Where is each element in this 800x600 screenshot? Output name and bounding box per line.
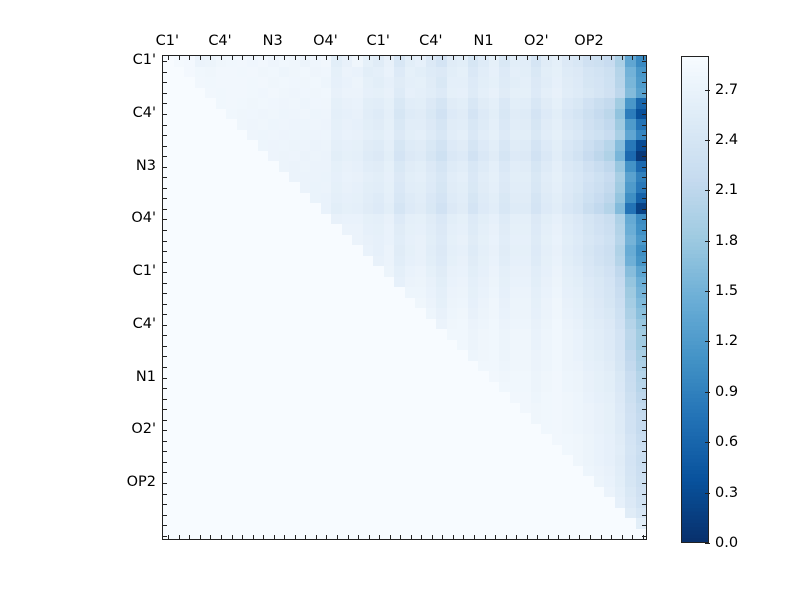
heatmap-cell bbox=[331, 119, 342, 130]
heatmap-cell bbox=[510, 193, 521, 204]
heatmap-cell bbox=[195, 67, 206, 78]
heatmap-cell bbox=[247, 518, 258, 529]
heatmap-cell bbox=[184, 455, 195, 466]
heatmap-cell bbox=[216, 487, 227, 498]
heatmap-cell bbox=[604, 361, 615, 372]
heatmap-cell bbox=[195, 203, 206, 214]
heatmap-cell bbox=[478, 88, 489, 99]
heatmap-cell bbox=[625, 382, 636, 393]
heatmap-cell bbox=[625, 455, 636, 466]
heatmap-cell bbox=[205, 518, 216, 529]
heatmap-cell bbox=[195, 88, 206, 99]
heatmap-cell bbox=[457, 56, 468, 67]
heatmap-cell bbox=[268, 424, 279, 435]
heatmap-cell bbox=[415, 476, 426, 487]
heatmap-cell bbox=[205, 487, 216, 498]
heatmap-cell bbox=[363, 361, 374, 372]
heatmap-cell bbox=[478, 361, 489, 372]
heatmap-cell bbox=[373, 266, 384, 277]
heatmap-cell bbox=[447, 214, 458, 225]
heatmap-cell bbox=[247, 455, 258, 466]
heatmap-cell bbox=[237, 67, 248, 78]
heatmap-cell bbox=[321, 224, 332, 235]
heatmap-cell bbox=[163, 434, 174, 445]
heatmap-cell bbox=[310, 340, 321, 351]
heatmap-cell bbox=[594, 172, 605, 183]
heatmap-cell bbox=[163, 392, 174, 403]
heatmap-cell bbox=[331, 340, 342, 351]
heatmap-cell bbox=[457, 413, 468, 424]
heatmap-cell bbox=[321, 67, 332, 78]
heatmap-cell bbox=[562, 361, 573, 372]
heatmap-cell bbox=[226, 508, 237, 519]
heatmap-cell bbox=[258, 508, 269, 519]
heatmap-cell bbox=[447, 67, 458, 78]
heatmap-cell bbox=[583, 476, 594, 487]
heatmap-cell bbox=[415, 109, 426, 120]
heatmap-cell bbox=[415, 403, 426, 414]
heatmap-cell bbox=[321, 487, 332, 498]
y-axis-tick bbox=[163, 114, 167, 115]
heatmap-cell bbox=[510, 298, 521, 309]
heatmap-cell bbox=[415, 350, 426, 361]
heatmap-cell bbox=[237, 98, 248, 109]
heatmap-cell bbox=[321, 77, 332, 88]
heatmap-cell bbox=[499, 413, 510, 424]
heatmap-cell bbox=[184, 88, 195, 99]
heatmap-cell bbox=[237, 455, 248, 466]
heatmap-cell bbox=[226, 497, 237, 508]
heatmap-cell bbox=[615, 203, 626, 214]
heatmap-cell bbox=[468, 287, 479, 298]
heatmap-cell bbox=[457, 67, 468, 78]
y-axis-tick bbox=[642, 167, 646, 168]
heatmap-cell bbox=[184, 445, 195, 456]
heatmap-cell bbox=[174, 350, 185, 361]
heatmap-cell bbox=[405, 214, 416, 225]
heatmap-cell bbox=[625, 371, 636, 382]
heatmap-cell bbox=[205, 224, 216, 235]
heatmap-cell bbox=[510, 161, 521, 172]
heatmap-cell bbox=[226, 98, 237, 109]
heatmap-cell bbox=[184, 277, 195, 288]
heatmap-cell bbox=[457, 476, 468, 487]
heatmap-cell bbox=[489, 308, 500, 319]
heatmap-cell bbox=[363, 424, 374, 435]
heatmap-cell bbox=[321, 329, 332, 340]
heatmap-cell bbox=[583, 319, 594, 330]
heatmap-cell bbox=[174, 193, 185, 204]
heatmap-cell bbox=[604, 67, 615, 78]
heatmap-cell bbox=[405, 298, 416, 309]
heatmap-cell bbox=[468, 214, 479, 225]
heatmap-cell bbox=[279, 277, 290, 288]
x-axis-tick bbox=[463, 535, 464, 539]
x-axis-tick bbox=[284, 535, 285, 539]
y-axis-tick bbox=[642, 93, 646, 94]
heatmap-cell bbox=[405, 119, 416, 130]
heatmap-cell bbox=[373, 235, 384, 246]
heatmap-cell bbox=[342, 203, 353, 214]
heatmap-cell bbox=[195, 403, 206, 414]
heatmap-cell bbox=[384, 151, 395, 162]
heatmap-cell bbox=[247, 476, 258, 487]
heatmap-cell bbox=[163, 382, 174, 393]
heatmap-cell bbox=[478, 56, 489, 67]
y-axis-tick bbox=[642, 462, 646, 463]
heatmap-cell bbox=[541, 235, 552, 246]
heatmap-cell bbox=[342, 455, 353, 466]
heatmap-cell bbox=[331, 193, 342, 204]
y-axis-tick bbox=[163, 388, 167, 389]
heatmap-cell bbox=[436, 245, 447, 256]
heatmap-cell bbox=[531, 119, 542, 130]
heatmap-cell bbox=[300, 172, 311, 183]
heatmap-cell bbox=[342, 130, 353, 141]
x-axis-tick bbox=[632, 56, 633, 60]
heatmap-cell bbox=[237, 203, 248, 214]
heatmap-cell bbox=[573, 403, 584, 414]
heatmap-cell bbox=[195, 256, 206, 267]
x-axis-tick bbox=[189, 535, 190, 539]
heatmap-cell bbox=[394, 109, 405, 120]
heatmap-cell bbox=[405, 529, 416, 540]
heatmap-cell bbox=[489, 319, 500, 330]
heatmap-cell bbox=[468, 382, 479, 393]
heatmap-cell bbox=[520, 434, 531, 445]
y-axis-tick bbox=[163, 125, 167, 126]
heatmap-cell bbox=[394, 361, 405, 372]
heatmap-cell bbox=[426, 455, 437, 466]
heatmap-cell bbox=[184, 319, 195, 330]
heatmap-cell bbox=[625, 529, 636, 540]
heatmap-cell bbox=[426, 508, 437, 519]
heatmap-cell bbox=[489, 266, 500, 277]
heatmap-cell bbox=[489, 529, 500, 540]
heatmap-cell bbox=[331, 445, 342, 456]
heatmap-cell bbox=[384, 256, 395, 267]
heatmap-cell bbox=[489, 193, 500, 204]
heatmap-cell bbox=[258, 88, 269, 99]
heatmap-cell bbox=[520, 151, 531, 162]
heatmap-cell bbox=[279, 329, 290, 340]
heatmap-cell bbox=[457, 382, 468, 393]
heatmap-cell bbox=[405, 455, 416, 466]
heatmap-cell bbox=[247, 203, 258, 214]
heatmap-cell bbox=[279, 266, 290, 277]
heatmap-cell bbox=[594, 224, 605, 235]
heatmap-cell bbox=[384, 403, 395, 414]
heatmap-cell bbox=[205, 98, 216, 109]
heatmap-cell bbox=[310, 130, 321, 141]
heatmap-cell bbox=[363, 329, 374, 340]
heatmap-cell bbox=[205, 476, 216, 487]
heatmap-cell bbox=[510, 445, 521, 456]
heatmap-cell bbox=[226, 392, 237, 403]
heatmap-cell bbox=[573, 424, 584, 435]
heatmap-cell bbox=[520, 298, 531, 309]
heatmap-cell bbox=[384, 161, 395, 172]
heatmap-cell bbox=[468, 161, 479, 172]
heatmap-cell bbox=[394, 151, 405, 162]
heatmap-cell bbox=[342, 497, 353, 508]
heatmap-cell bbox=[373, 403, 384, 414]
heatmap-cell bbox=[510, 98, 521, 109]
heatmap-cell bbox=[531, 319, 542, 330]
heatmap-cell bbox=[489, 382, 500, 393]
heatmap-cell bbox=[247, 340, 258, 351]
heatmap-cell bbox=[468, 434, 479, 445]
heatmap-cell bbox=[604, 151, 615, 162]
heatmap-cell bbox=[342, 161, 353, 172]
heatmap-cell bbox=[447, 487, 458, 498]
heatmap-cell bbox=[499, 298, 510, 309]
heatmap-cell bbox=[174, 392, 185, 403]
heatmap-cell bbox=[615, 413, 626, 424]
heatmap-cell bbox=[310, 434, 321, 445]
heatmap-cell bbox=[520, 392, 531, 403]
heatmap-cell bbox=[468, 56, 479, 67]
heatmap-cell bbox=[237, 151, 248, 162]
heatmap-cell bbox=[289, 151, 300, 162]
heatmap-cell bbox=[562, 466, 573, 477]
heatmap-cell bbox=[394, 319, 405, 330]
x-axis-tick bbox=[390, 56, 391, 60]
heatmap-cell bbox=[457, 203, 468, 214]
heatmap-cell bbox=[405, 392, 416, 403]
x-axis-tick-labels: C1'C4'N3O4'C1'C4'N1O2'OP2 bbox=[162, 0, 647, 55]
heatmap-cell bbox=[552, 434, 563, 445]
heatmap-cell bbox=[478, 130, 489, 141]
heatmap-cell bbox=[279, 203, 290, 214]
heatmap-cell bbox=[363, 151, 374, 162]
heatmap-cell bbox=[541, 361, 552, 372]
heatmap-cell bbox=[520, 256, 531, 267]
heatmap-cell bbox=[163, 403, 174, 414]
heatmap-cell bbox=[415, 287, 426, 298]
heatmap-cell bbox=[436, 382, 447, 393]
heatmap-cell bbox=[216, 109, 227, 120]
colorbar-tick-label: 0.0 bbox=[715, 535, 738, 551]
heatmap-cell bbox=[195, 487, 206, 498]
heatmap-cell bbox=[226, 445, 237, 456]
y-axis-tick bbox=[642, 283, 646, 284]
heatmap-cell bbox=[636, 329, 647, 340]
heatmap-cell bbox=[184, 434, 195, 445]
heatmap-cell bbox=[594, 329, 605, 340]
heatmap-cell bbox=[520, 518, 531, 529]
heatmap-cell bbox=[310, 518, 321, 529]
heatmap-cell bbox=[205, 235, 216, 246]
heatmap-cell bbox=[174, 413, 185, 424]
heatmap-cell bbox=[342, 182, 353, 193]
heatmap-cell bbox=[268, 98, 279, 109]
heatmap-cell bbox=[342, 434, 353, 445]
heatmap-cell bbox=[268, 298, 279, 309]
heatmap-cell bbox=[184, 182, 195, 193]
heatmap-cell bbox=[310, 329, 321, 340]
colorbar-tick-label: 1.8 bbox=[715, 233, 738, 249]
heatmap-cell bbox=[279, 350, 290, 361]
heatmap-cell bbox=[478, 287, 489, 298]
heatmap-cell bbox=[489, 497, 500, 508]
heatmap-cell bbox=[562, 340, 573, 351]
heatmap-cell bbox=[373, 214, 384, 225]
heatmap-cell bbox=[226, 140, 237, 151]
heatmap-cell bbox=[205, 466, 216, 477]
heatmap-cell bbox=[594, 350, 605, 361]
heatmap-cell bbox=[625, 518, 636, 529]
heatmap-cell bbox=[174, 161, 185, 172]
heatmap-cell bbox=[415, 130, 426, 141]
x-axis-tick bbox=[326, 535, 327, 539]
heatmap-cell bbox=[216, 392, 227, 403]
heatmap-cell bbox=[205, 67, 216, 78]
heatmap-cell bbox=[289, 434, 300, 445]
heatmap-cell bbox=[625, 350, 636, 361]
x-axis-tick bbox=[200, 56, 201, 60]
heatmap-cell bbox=[426, 182, 437, 193]
heatmap-cell bbox=[331, 382, 342, 393]
heatmap-cell bbox=[216, 298, 227, 309]
y-axis-tick bbox=[642, 430, 646, 431]
heatmap-cell bbox=[510, 455, 521, 466]
heatmap-cell bbox=[205, 298, 216, 309]
heatmap-cell bbox=[226, 466, 237, 477]
y-axis-tick bbox=[642, 241, 646, 242]
heatmap-cell bbox=[468, 277, 479, 288]
heatmap-cell bbox=[531, 151, 542, 162]
y-axis-tick-label: O4' bbox=[131, 210, 156, 226]
heatmap-cell bbox=[520, 161, 531, 172]
heatmap-cell bbox=[573, 340, 584, 351]
heatmap-cell bbox=[394, 203, 405, 214]
heatmap-cell bbox=[552, 287, 563, 298]
heatmap-cell bbox=[184, 497, 195, 508]
heatmap-cell bbox=[562, 214, 573, 225]
heatmap-cell bbox=[562, 319, 573, 330]
heatmap-cell bbox=[594, 203, 605, 214]
heatmap-cell bbox=[268, 434, 279, 445]
heatmap-cell bbox=[321, 434, 332, 445]
heatmap-cell bbox=[300, 98, 311, 109]
heatmap-cell bbox=[520, 455, 531, 466]
heatmap-cell bbox=[562, 529, 573, 540]
heatmap-cell bbox=[552, 109, 563, 120]
heatmap-cell bbox=[573, 329, 584, 340]
heatmap-cell bbox=[289, 487, 300, 498]
heatmap-cell bbox=[636, 298, 647, 309]
heatmap-cell bbox=[268, 455, 279, 466]
heatmap-cell bbox=[289, 130, 300, 141]
y-axis-tick bbox=[163, 177, 167, 178]
heatmap-cell bbox=[510, 466, 521, 477]
heatmap-cell bbox=[352, 497, 363, 508]
heatmap-cell bbox=[510, 371, 521, 382]
heatmap-cell bbox=[573, 508, 584, 519]
heatmap-cell bbox=[310, 361, 321, 372]
heatmap-cell bbox=[300, 151, 311, 162]
heatmap-cell bbox=[247, 497, 258, 508]
heatmap-cell bbox=[499, 287, 510, 298]
heatmap-cell bbox=[394, 455, 405, 466]
heatmap-cell bbox=[583, 329, 594, 340]
heatmap-cell bbox=[436, 98, 447, 109]
heatmap-cell bbox=[604, 256, 615, 267]
heatmap-cell bbox=[310, 88, 321, 99]
heatmap-cell bbox=[226, 119, 237, 130]
x-axis-tick bbox=[558, 535, 559, 539]
x-axis-tick bbox=[400, 56, 401, 60]
heatmap-cell bbox=[436, 298, 447, 309]
heatmap-cell bbox=[258, 413, 269, 424]
heatmap-cell bbox=[394, 487, 405, 498]
colorbar-tick-label: 1.5 bbox=[715, 283, 738, 299]
heatmap-cell bbox=[625, 413, 636, 424]
heatmap-cell bbox=[216, 340, 227, 351]
heatmap-cell bbox=[457, 119, 468, 130]
colorbar-tick bbox=[705, 442, 710, 443]
heatmap-cell bbox=[583, 340, 594, 351]
heatmap-cell bbox=[205, 277, 216, 288]
heatmap-cell bbox=[405, 98, 416, 109]
heatmap-cell bbox=[289, 287, 300, 298]
heatmap-cell bbox=[489, 487, 500, 498]
heatmap-cell bbox=[247, 193, 258, 204]
heatmap-cell bbox=[258, 182, 269, 193]
heatmap-cell bbox=[520, 277, 531, 288]
x-axis-tick bbox=[337, 56, 338, 60]
heatmap-cell bbox=[373, 193, 384, 204]
heatmap-cell bbox=[184, 256, 195, 267]
heatmap-cell bbox=[436, 224, 447, 235]
heatmap-cell bbox=[499, 182, 510, 193]
colorbar-tick-label: 0.6 bbox=[715, 434, 738, 450]
heatmap-cell bbox=[384, 224, 395, 235]
heatmap-cell bbox=[289, 361, 300, 372]
y-axis-tick bbox=[642, 472, 646, 473]
heatmap-cell bbox=[226, 371, 237, 382]
heatmap-axes[interactable] bbox=[162, 55, 647, 540]
heatmap-cell bbox=[436, 487, 447, 498]
heatmap-cell bbox=[205, 319, 216, 330]
heatmap-cell bbox=[520, 487, 531, 498]
heatmap-cell bbox=[531, 298, 542, 309]
x-axis-tick bbox=[622, 535, 623, 539]
y-axis-tick bbox=[642, 135, 646, 136]
heatmap-cell bbox=[615, 382, 626, 393]
heatmap-cell bbox=[562, 98, 573, 109]
heatmap-cell bbox=[247, 235, 258, 246]
heatmap-cell bbox=[447, 455, 458, 466]
heatmap-cell bbox=[363, 287, 374, 298]
heatmap-cell bbox=[352, 245, 363, 256]
heatmap-cell bbox=[415, 77, 426, 88]
heatmap-cell bbox=[615, 298, 626, 309]
heatmap-cell bbox=[489, 161, 500, 172]
heatmap-cell bbox=[268, 119, 279, 130]
heatmap-cell bbox=[436, 361, 447, 372]
y-axis-tick bbox=[163, 293, 167, 294]
heatmap-cell bbox=[373, 151, 384, 162]
heatmap-cell bbox=[405, 256, 416, 267]
heatmap-cell bbox=[594, 109, 605, 120]
heatmap-cell bbox=[342, 193, 353, 204]
heatmap-cell bbox=[541, 266, 552, 277]
heatmap-cell bbox=[300, 224, 311, 235]
heatmap-cell bbox=[279, 287, 290, 298]
heatmap-cell bbox=[363, 172, 374, 183]
